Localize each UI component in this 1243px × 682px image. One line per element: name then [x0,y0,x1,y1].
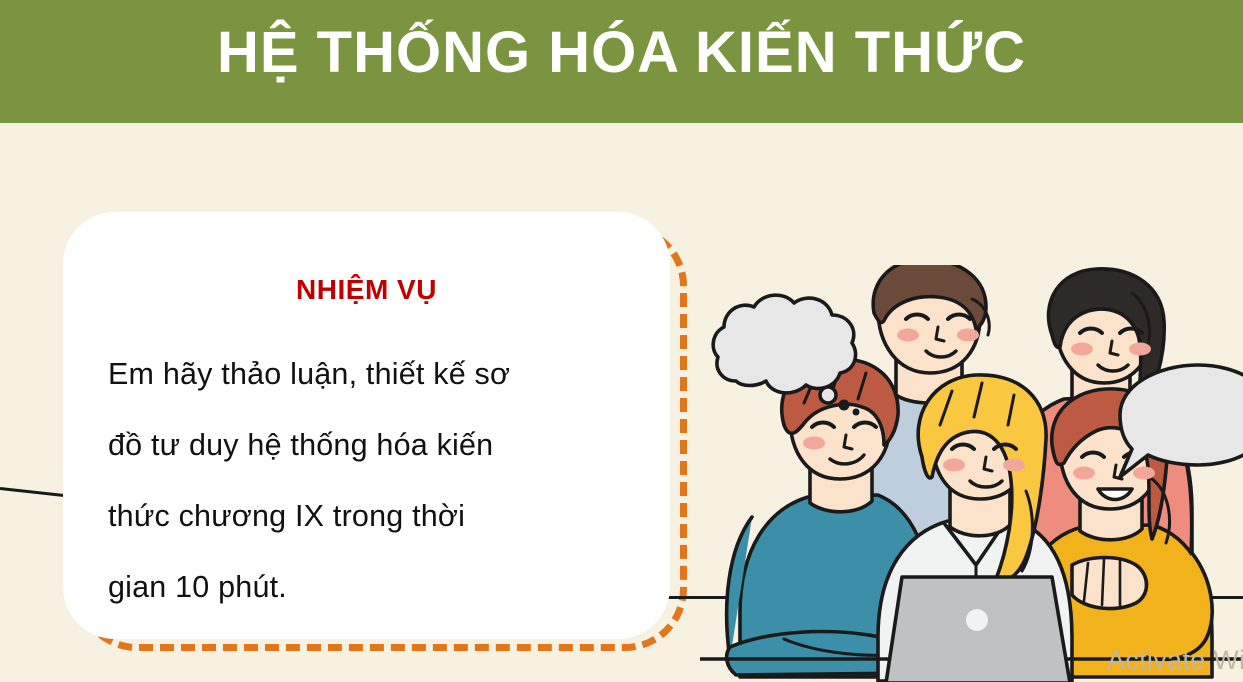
header-band: HỆ THỐNG HÓA KIẾN THỨC [0,0,1243,123]
laptop [886,577,1070,682]
task-body: Em hãy thảo luận, thiết kế sơ đồ tư duy … [108,339,653,623]
activate-windows-watermark: Activate Win [1107,645,1243,676]
connector-line-left [0,487,68,497]
task-heading: NHIỆM VỤ [63,274,670,306]
task-body-line-4: gian 10 phút. [108,552,653,623]
students-laptop-illustration [700,265,1243,682]
task-body-line-2: đồ tư duy hệ thống hóa kiến [108,410,653,481]
slide-canvas: HỆ THỐNG HÓA KIẾN THỨC NHIỆM VỤ Em hãy t… [0,0,1243,682]
speech-bubble [1120,365,1243,477]
page-title: HỆ THỐNG HÓA KIẾN THỨC [0,18,1243,88]
task-body-line-1: Em hãy thảo luận, thiết kế sơ [108,339,653,410]
task-body-line-3: thức chương IX trong thời [108,481,653,552]
task-card: NHIỆM VỤ Em hãy thảo luận, thiết kế sơ đ… [63,212,670,639]
